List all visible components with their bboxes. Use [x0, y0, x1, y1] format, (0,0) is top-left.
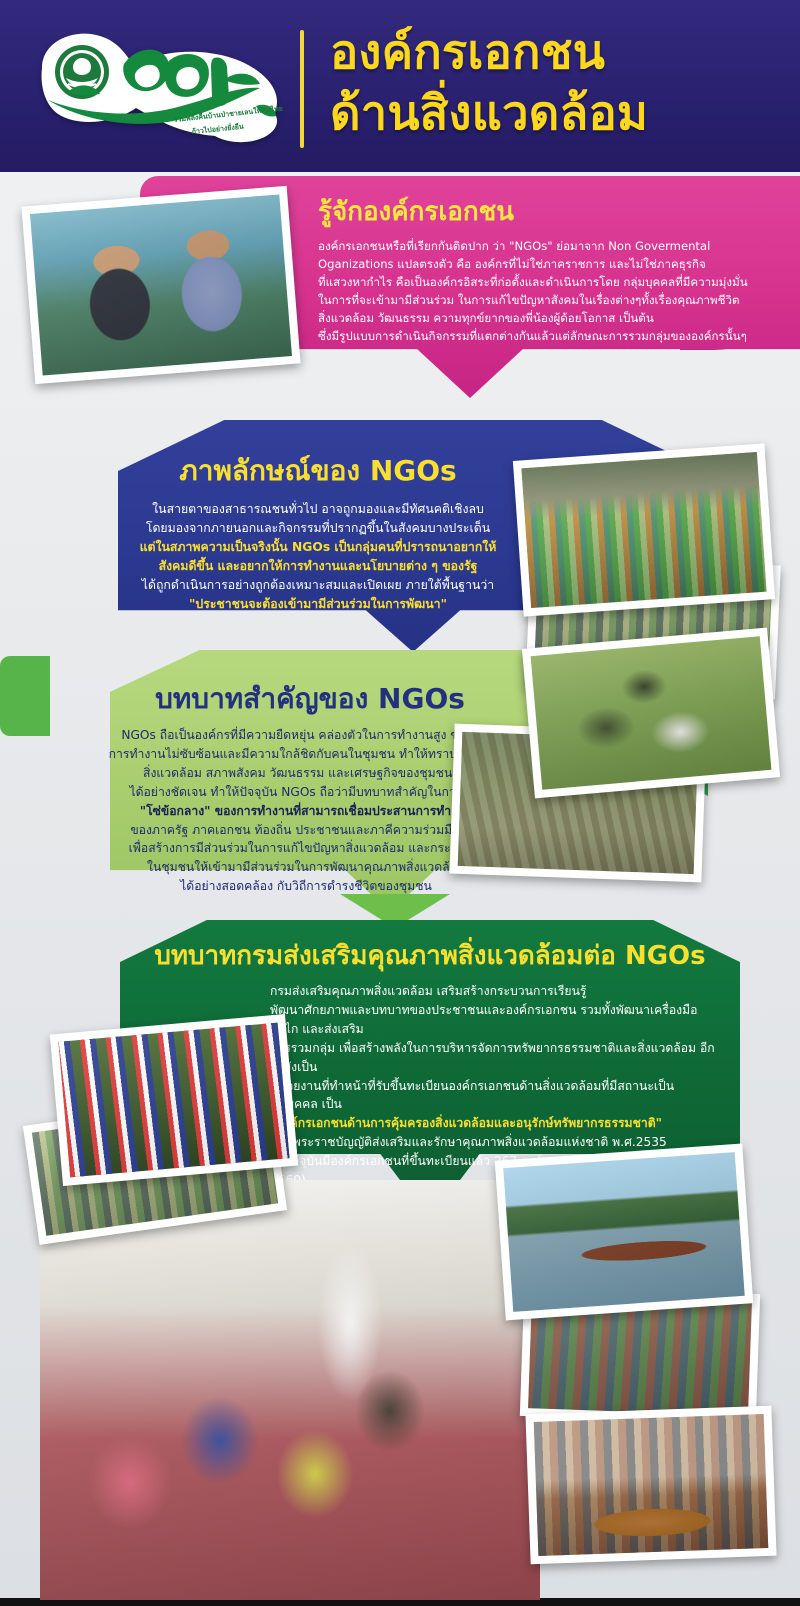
- section2-line: ในสายตาของสาธารณชนทั่วไป อาจถูกมองและมีท…: [112, 500, 524, 519]
- photo-image: [40, 1180, 540, 1600]
- section3-title: บทบาทสำคัญของ NGOs: [110, 684, 510, 715]
- section2-line-highlight: สังคมดีขึ้น และอยากให้การทำงานและนโยบายต…: [112, 557, 524, 576]
- photo-image: [58, 1023, 289, 1178]
- section3-line: ได้อย่างชัดเจน ทำให้ปัจจุบัน NGOs ถือว่า…: [104, 783, 508, 802]
- section3-line: สิ่งแวดล้อม สภาพสังคม วัฒนธรรม และเศรษฐก…: [104, 764, 508, 783]
- poster-header: รวมพลังคืนบ้านป่าชายเลนให้คนไทย ก้าวไปอย…: [0, 0, 800, 172]
- section1-title: รู้จักองค์กรเอกชน: [318, 198, 768, 227]
- header-divider: [300, 30, 304, 148]
- section3-line: ได้อย่างสอดคล้อง กับวิถีการดำรงชีวิตของช…: [104, 877, 508, 896]
- photo-image: [30, 194, 292, 375]
- section4-line-highlight: "องค์กรเอกชนด้านการคุ้มครองสิ่งแวดล้อมแล…: [270, 1114, 720, 1133]
- section1-body: องค์กรเอกชนหรือที่เรียกกันติดปาก ว่า "NG…: [318, 238, 768, 346]
- photo-image: [503, 1152, 744, 1312]
- section3-line-highlight: "โซ่ข้อกลาง" ของการทำงานที่สามารถเชื่อมป…: [104, 802, 508, 821]
- section1-line: องค์กรเอกชนหรือที่เรียกกันติดปาก ว่า "NG…: [318, 238, 768, 256]
- section4-line: หน่วยงานที่ทำหน้าที่รับขึ้นทะเบียนองค์กร…: [270, 1077, 720, 1115]
- section4-title: บทบาทกรมส่งเสริมคุณภาพสิ่งแวดล้อมต่อ NGO…: [120, 942, 740, 971]
- photo-handshake-award: [21, 186, 300, 384]
- section1-line: สิ่งแวดล้อม วัฒนธรรม ความทุกข์ยากของพี่น…: [318, 310, 768, 328]
- section3-line: ของภาครัฐ ภาคเอกชน ท้องถิ่น ประชาชนและภา…: [104, 821, 508, 840]
- photo-image: [531, 636, 772, 790]
- section2-line-highlight: แต่ในสภาพความเป็นจริงนั้น NGOs เป็นกลุ่ม…: [112, 538, 524, 557]
- section2-line: โดยมองจากภายนอกและกิจกรรมที่ปรากฏขึ้นในส…: [112, 519, 524, 538]
- section4-line: การรวมกลุ่ม เพื่อสร้างพลังในการบริหารจัด…: [270, 1039, 720, 1077]
- infographic-poster: รวมพลังคืนบ้านป่าชายเลนให้คนไทย ก้าวไปอย…: [0, 0, 800, 1606]
- section1-line: ที่แสวงหากำไร คือเป็นองค์กรอิสระที่ก่อตั…: [318, 274, 768, 292]
- section3-left-tab: [0, 656, 50, 736]
- photo-thai-flags: [50, 1014, 298, 1186]
- section3-line: ในชุมชนให้เข้ามามีส่วนร่วมในการพัฒนาคุณภ…: [104, 858, 508, 877]
- section1-line: ในการที่จะเข้ามามีส่วนร่วม ในการแก้ไขปัญ…: [318, 292, 768, 310]
- section2-title: ภาพลักษณ์ของ NGOs: [118, 456, 518, 487]
- photo-image: [521, 452, 766, 608]
- section3-line: NGOs ถือเป็นองค์กรที่มีความยืดหยุ่น คล่อ…: [104, 726, 508, 745]
- photo-seated-learning: [40, 1180, 540, 1600]
- section2-body: ในสายตาของสาธารณชนทั่วไป อาจถูกมองและมีท…: [112, 500, 524, 614]
- page-title: องค์กรเอกชน ด้านสิ่งแวดล้อม: [330, 22, 790, 144]
- section3-body: NGOs ถือเป็นองค์กรที่มีความยืดหยุ่น คล่อ…: [104, 726, 508, 896]
- photo-picnic-workshop: [522, 628, 780, 799]
- photo-longtail-boat: [495, 1144, 754, 1321]
- section3-line: เพื่อสร้างการมีส่วนร่วมในการแก้ไขปัญหาสิ…: [104, 839, 508, 858]
- photo-image: [534, 1414, 769, 1556]
- anniversary-logo: รวมพลังคืนบ้านป่าชายเลนให้คนไทย ก้าวไปอย…: [24, 22, 292, 152]
- section3-line: การทำงานไม่ซับซ้อนและมีความใกล้ชิดกับคนใ…: [104, 745, 508, 764]
- page-title-line2: ด้านสิ่งแวดล้อม: [330, 83, 790, 144]
- photo-conference-room: [525, 1406, 776, 1564]
- page-title-line1: องค์กรเอกชน: [330, 25, 605, 80]
- photo-community-group: [513, 443, 775, 616]
- section1-line: ซึ่งมีรูปแบบการดำเนินกิจกรรมที่แตกต่างกั…: [318, 328, 768, 346]
- section1-line: Oganizations แปลตรงตัว คือ องค์กรที่ไม่ใ…: [318, 256, 768, 274]
- section4-line: กรมส่งเสริมคุณภาพสิ่งแวดล้อม เสริมสร้างก…: [270, 982, 720, 1001]
- section2-line-highlight: "ประชาชนจะต้องเข้ามามีส่วนร่วมในการพัฒนา…: [112, 595, 524, 614]
- section2-line: ได้ถูกดำเนินการอย่างถูกต้องเหมาะสมและเปิ…: [112, 576, 524, 595]
- section4-line: พัฒนาศักยภาพและบทบาทของประชาชนและองค์กรเ…: [270, 1001, 720, 1039]
